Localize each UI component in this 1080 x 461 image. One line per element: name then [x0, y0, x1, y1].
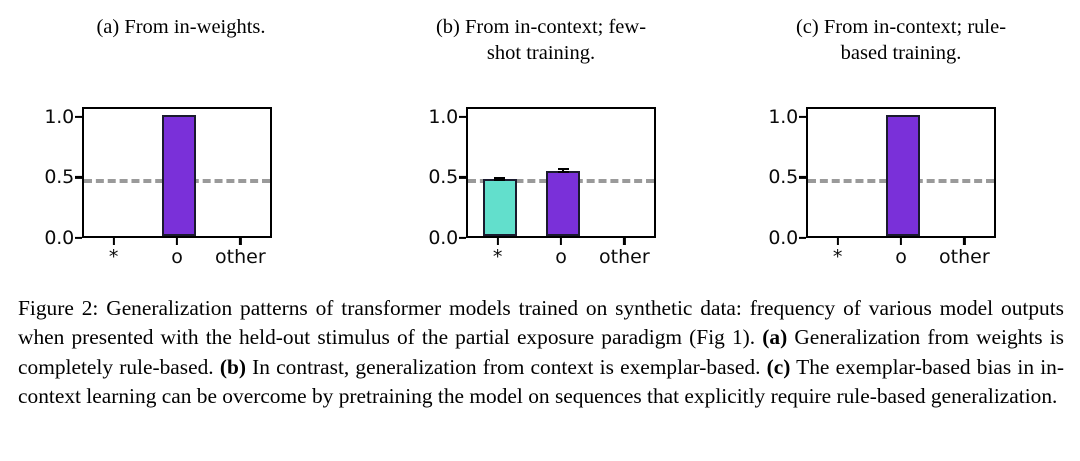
x-tick-mark: [113, 238, 115, 245]
panel-a-plot-area: [82, 107, 272, 238]
error-bar-o: [562, 168, 564, 173]
panel-c-x-axis: *oother: [806, 238, 996, 272]
caption-bold-marker: (a): [762, 325, 787, 349]
panel-b-plot-area: [466, 107, 656, 238]
chart-panel-c: (c) From in-context; rule- based trainin…: [720, 0, 1080, 285]
y-tick-label: 0.5: [768, 166, 798, 188]
y-tick-mark: [75, 116, 82, 118]
y-tick-label: 0.5: [44, 166, 74, 188]
x-tick-mark: [176, 238, 178, 245]
x-tick-mark: [900, 238, 902, 245]
y-tick-label: 0.0: [428, 227, 458, 249]
panel-c-y-axis-labels: 0.00.51.0: [742, 107, 798, 238]
y-tick-label: 0.5: [428, 166, 458, 188]
x-tick-mark: [560, 238, 562, 245]
y-tick-label: 0.0: [44, 227, 74, 249]
y-tick-mark: [799, 116, 806, 118]
y-tick-mark: [75, 176, 82, 178]
y-tick-label: 1.0: [768, 106, 798, 128]
panel-a-x-axis: *oother: [82, 238, 272, 272]
error-bar-star: [498, 177, 500, 181]
x-tick-mark: [239, 238, 241, 245]
caption-text-run: In contrast, generalization from context…: [246, 355, 767, 379]
bar-star: [483, 179, 517, 236]
x-tick-mark: [497, 238, 499, 245]
x-tick-mark: [963, 238, 965, 245]
y-tick-label: 1.0: [428, 106, 458, 128]
x-tick-label: *: [109, 246, 119, 268]
y-tick-label: 0.0: [768, 227, 798, 249]
bar-o: [886, 115, 920, 236]
x-tick-mark: [837, 238, 839, 245]
panel-c-caption: (c) From in-context; rule- based trainin…: [748, 14, 1054, 66]
panel-b-caption: (b) From in-context; few- shot training.: [388, 14, 694, 66]
caption-bold-marker: (b): [220, 355, 246, 379]
panel-a-y-axis-labels: 0.00.51.0: [18, 107, 74, 238]
bar-o: [546, 171, 580, 237]
chart-panel-b: (b) From in-context; few- shot training.…: [360, 0, 720, 285]
panel-a-caption: (a) From in-weights.: [28, 14, 334, 40]
x-tick-label: other: [939, 246, 990, 268]
y-tick-mark: [459, 116, 466, 118]
chart-panel-a: (a) From in-weights. 0.00.51.0 *oother: [0, 0, 360, 285]
x-tick-mark: [623, 238, 625, 245]
figure-panels: (a) From in-weights. 0.00.51.0 *oother (…: [0, 0, 1080, 285]
y-tick-mark: [799, 176, 806, 178]
bar-o: [162, 115, 196, 236]
x-tick-label: o: [171, 246, 183, 268]
x-tick-label: other: [215, 246, 266, 268]
caption-bold-marker: (c): [767, 355, 791, 379]
x-tick-label: *: [493, 246, 503, 268]
x-tick-label: other: [599, 246, 650, 268]
y-tick-mark: [459, 237, 466, 239]
y-tick-mark: [799, 237, 806, 239]
x-tick-label: *: [833, 246, 843, 268]
y-tick-label: 1.0: [44, 106, 74, 128]
panel-b-y-axis-labels: 0.00.51.0: [402, 107, 458, 238]
panel-b-x-axis: *oother: [466, 238, 656, 272]
x-tick-label: o: [895, 246, 907, 268]
y-tick-mark: [75, 237, 82, 239]
figure-caption: Figure 2: Generalization patterns of tra…: [18, 294, 1064, 412]
panel-c-plot-area: [806, 107, 996, 238]
y-tick-mark: [459, 176, 466, 178]
x-tick-label: o: [555, 246, 567, 268]
